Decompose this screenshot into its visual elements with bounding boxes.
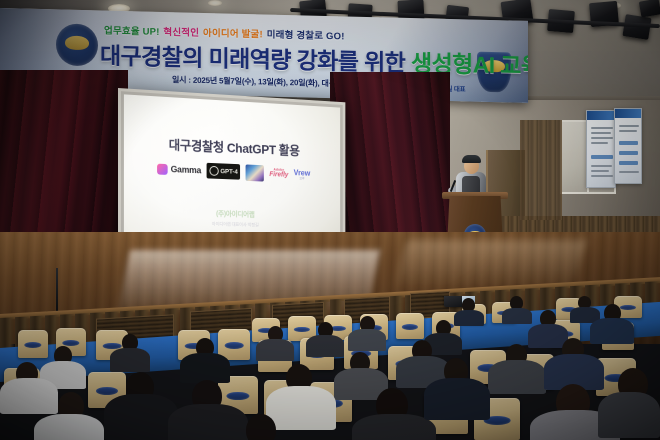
poster-text-line [591, 137, 613, 139]
audience-shoulders [424, 378, 490, 420]
audience-shoulders [598, 392, 660, 438]
auditorium-seat [18, 330, 48, 358]
slide-logo-row: Gamma GPT-4 Adobe Firefly Vrew 브루 [124, 156, 340, 186]
seat-emblem-icon [96, 387, 118, 395]
audience-shoulders [104, 394, 178, 440]
audience-shoulders [34, 414, 104, 440]
presenter-cap [462, 155, 481, 163]
poster-text-line [591, 127, 613, 129]
wall-poster-left [586, 110, 616, 188]
audience-head [246, 414, 276, 440]
wall-poster-right [614, 108, 642, 184]
poster-text-line [591, 165, 612, 167]
poster-text-line [619, 171, 639, 173]
poster-header-band [615, 109, 641, 118]
slide-footer: (주)아이디어랩 아이디어랩 대표이사 박정길 [124, 206, 340, 230]
seat-emblem-icon [402, 324, 418, 330]
audience-shoulders [502, 308, 532, 324]
seat-emblem-icon [620, 305, 636, 310]
poster-text-line [591, 175, 613, 177]
seat-emblem-icon [225, 342, 244, 349]
poster-accent-bar [619, 151, 638, 155]
poster-text-line [619, 130, 637, 132]
poster-accent-bar [591, 155, 613, 159]
firefly-logo-label: Firefly [269, 171, 288, 178]
poster-text-line [591, 170, 609, 172]
audience-shoulders [488, 360, 546, 394]
audience-shoulders [256, 339, 294, 361]
audience-shoulders [0, 378, 58, 414]
gamma-logo: Gamma [157, 163, 201, 176]
audience-shoulders [180, 353, 230, 383]
audience-shoulders [110, 348, 150, 372]
seat-emblem-icon [62, 340, 79, 346]
poster-accent-bar [619, 141, 638, 145]
gpt4-logo: GPT-4 [207, 163, 240, 180]
gamma-logo-label: Gamma [171, 164, 201, 175]
poster-text-line [619, 125, 639, 127]
audience-shoulders [590, 318, 634, 344]
adobe-firefly-logo: Adobe Firefly [269, 168, 288, 179]
auditorium-seat [396, 313, 424, 339]
vrew-logo: Vrew 브루 [294, 169, 311, 180]
image-thumbnail-logo [246, 164, 264, 181]
poster-text-line [591, 142, 608, 144]
audience-seating-area [0, 296, 660, 440]
auditorium-photo: 업무효율 UP! 혁신적인 아이디어 발굴! 미래형 경찰로 GO! 대구경찰의… [0, 0, 660, 440]
poster-header-band [587, 111, 615, 120]
seat-emblem-icon [226, 392, 249, 400]
poster-accent-bar [619, 161, 638, 165]
wall-wood-panel [520, 120, 562, 220]
audience-shoulders [168, 404, 248, 440]
seat-emblem-icon [294, 327, 310, 333]
seat-emblem-icon [24, 342, 41, 348]
gpt4-logo-label: GPT-4 [220, 168, 237, 175]
audience-shoulders [454, 310, 484, 326]
ceiling-downlight [208, 0, 222, 6]
audience-shoulders [306, 335, 344, 357]
gamma-mark-icon [157, 163, 168, 174]
openai-knot-icon [209, 166, 218, 176]
poster-text-line [591, 132, 611, 134]
audience-shoulders [266, 386, 336, 430]
audience-shoulders [348, 329, 386, 351]
